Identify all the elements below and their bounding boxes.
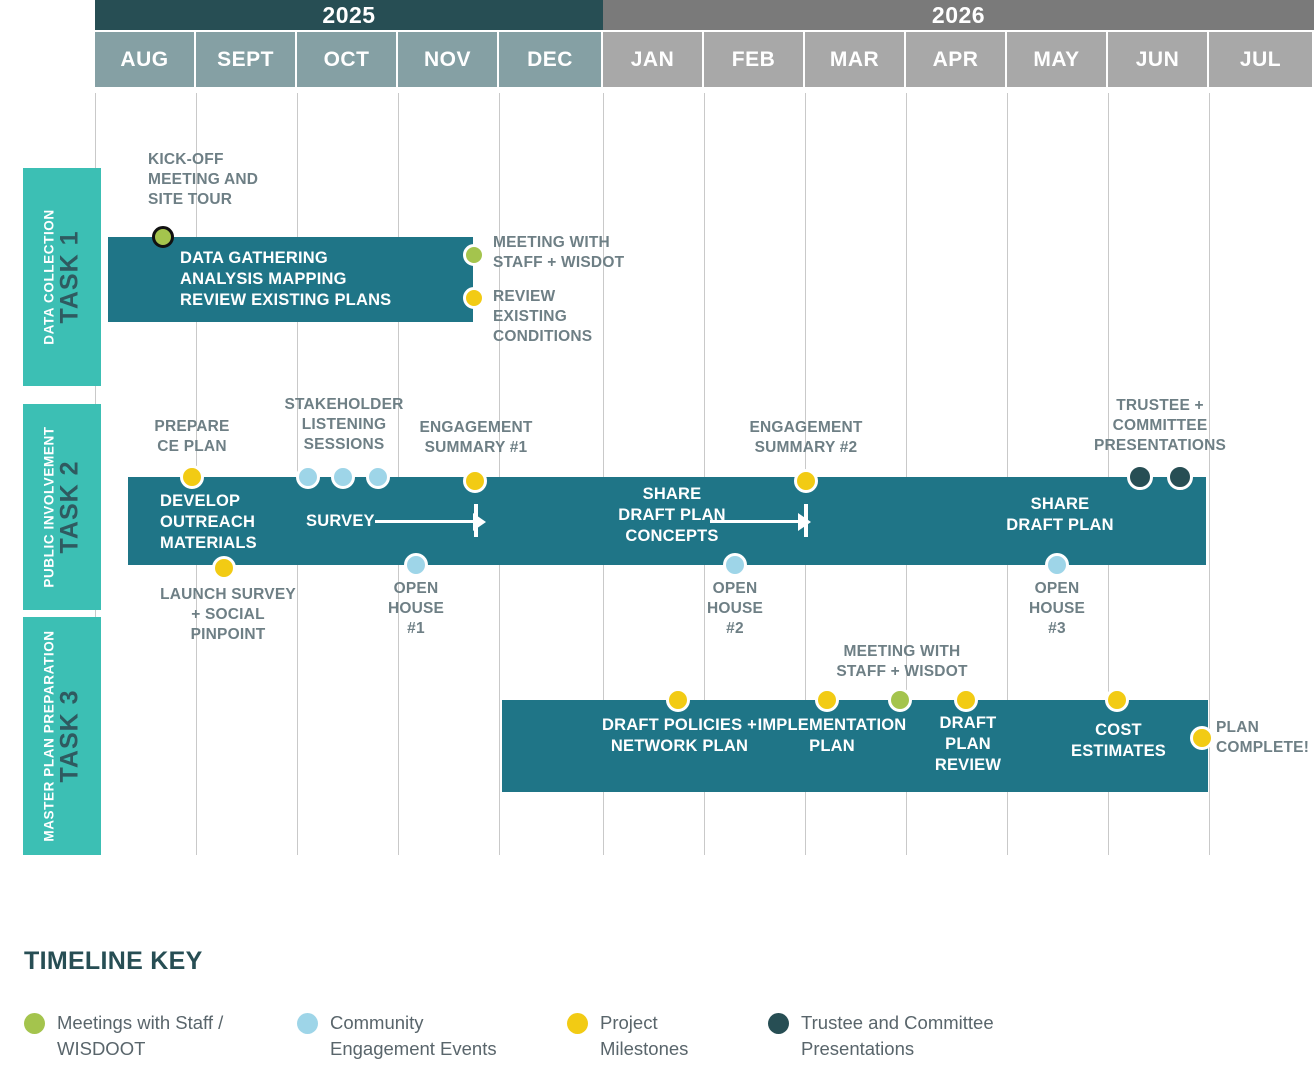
milestone-dot-engagement-summary-1: [463, 469, 487, 493]
review-existing-label: REVIEWEXISTINGCONDITIONS: [493, 287, 643, 346]
month-header-aug: AUG: [95, 32, 196, 87]
month-header-jul: JUL: [1209, 32, 1314, 87]
month-header-mar: MAR: [805, 32, 906, 87]
task-subtitle-3: MASTER PLAN PREPARATION: [42, 630, 56, 841]
launch-survey-label: LAUNCH SURVEY+ SOCIALPINPOINT: [148, 585, 308, 644]
engagement-summary-1-label: ENGAGEMENTSUMMARY #1: [400, 418, 552, 458]
legend-label-project-milestones: ProjectMilestones: [600, 1010, 688, 1063]
month-header-apr: APR: [906, 32, 1007, 87]
kick-off-meeting-label: KICK-OFFMEETING ANDSITE TOUR: [148, 150, 328, 209]
legend-item-meetings-staff-wisdoot: Meetings with Staff /WISDOOT: [24, 1010, 264, 1063]
legend-label-community-engagement: CommunityEngagement Events: [330, 1010, 497, 1063]
milestone-dot-launch-survey: [212, 556, 236, 580]
milestone-dot-plan-complete: [1190, 726, 1214, 750]
stakeholder-sessions-label: STAKEHOLDERLISTENINGSESSIONS: [270, 395, 418, 454]
open-house-3-label: OPENHOUSE#3: [1007, 579, 1107, 638]
month-header-nov: NOV: [398, 32, 499, 87]
plan-complete-label: PLANCOMPLETE!: [1216, 718, 1314, 758]
legend-item-project-milestones: ProjectMilestones: [567, 1010, 747, 1063]
legend-label-meetings-staff-wisdoot: Meetings with Staff /WISDOOT: [57, 1010, 223, 1063]
survey-arrow-label: SURVEY: [306, 511, 375, 532]
milestone-dot-draft-policies-network-plan: [666, 688, 690, 712]
milestone-dot-open-house-2: [723, 553, 747, 577]
task-number-1: TASK 1: [57, 230, 82, 323]
milestone-dot-review-existing-conditions: [463, 287, 485, 309]
month-header-may: MAY: [1007, 32, 1108, 87]
milestone-dot-stakeholder-session-3: [366, 465, 390, 489]
milestone-dot-engagement-summary-2: [794, 469, 818, 493]
task-3-activity-4: COSTESTIMATES: [1062, 720, 1175, 762]
milestone-dot-cost-estimates: [1105, 688, 1129, 712]
legend-item-trustee-committee: Trustee and CommitteePresentations: [768, 1010, 1048, 1063]
task-3-activity-3: DRAFTPLANREVIEW: [923, 713, 1013, 775]
milestone-dot-kick-off-meeting: [152, 226, 174, 248]
milestone-dot-open-house-3: [1045, 553, 1069, 577]
open-house-2-label: OPENHOUSE#2: [685, 579, 785, 638]
task-label-3: TASK 3MASTER PLAN PREPARATION: [23, 617, 101, 855]
task-subtitle-1: DATA COLLECTION: [42, 209, 56, 344]
arrow-line-2: [710, 520, 798, 523]
legend-swatch-meetings-staff-wisdoot: [24, 1013, 45, 1034]
month-header-dec: DEC: [499, 32, 603, 87]
prepare-ce-plan-label: PREPARECE PLAN: [127, 417, 257, 457]
arrow-line-1: [375, 520, 473, 523]
legend-label-trustee-committee: Trustee and CommitteePresentations: [801, 1010, 994, 1063]
arrow-endcap-2: [804, 504, 808, 537]
month-header-feb: FEB: [704, 32, 805, 87]
year-header-2026: 2026: [603, 0, 1314, 30]
timeline-canvas: 20252026 AUGSEPTOCTNOVDECJANFEBMARAPRMAY…: [0, 0, 1314, 1065]
task-2-activity-2: SHAREDRAFT PLANCONCEPTS: [592, 484, 752, 546]
task-3-activity-2: IMPLEMENTATIONPLAN: [756, 715, 908, 757]
milestone-dot-trustee-presentation-2: [1167, 464, 1193, 490]
milestone-dot-stakeholder-session-2: [331, 465, 355, 489]
legend-item-community-engagement: CommunityEngagement Events: [297, 1010, 547, 1063]
task-2-activity-1: DEVELOPOUTREACHMATERIALS: [160, 491, 320, 553]
open-house-1-label: OPENHOUSE#1: [366, 579, 466, 638]
legend-title: TIMELINE KEY: [24, 947, 203, 976]
task-3-activity-1: DRAFT POLICIES +NETWORK PLAN: [592, 715, 767, 757]
milestone-dot-meeting-with-staff-wisdot-2: [888, 688, 912, 712]
meeting-staff-wisdot-2-label: MEETING WITHSTAFF + WISDOT: [826, 642, 978, 682]
milestone-dot-open-house-1: [404, 553, 428, 577]
engagement-summary-2-label: ENGAGEMENTSUMMARY #2: [730, 418, 882, 458]
milestone-dot-draft-plan-review: [954, 688, 978, 712]
month-header-sept: SEPT: [196, 32, 297, 87]
milestone-dot-stakeholder-session-1: [296, 465, 320, 489]
month-header-oct: OCT: [297, 32, 398, 87]
milestone-dot-prepare-ce-plan: [180, 465, 204, 489]
gridline-3: [398, 93, 399, 855]
gridline-4: [499, 93, 500, 855]
task-number-2: TASK 2: [57, 460, 82, 553]
task-label-1: TASK 1DATA COLLECTION: [23, 168, 101, 386]
meeting-staff-wisdot-1-label: MEETING WITHSTAFF + WISDOT: [493, 233, 683, 273]
task-1-activity-1: DATA GATHERINGANALYSIS MAPPINGREVIEW EXI…: [180, 248, 470, 310]
task-label-2: TASK 2PUBLIC INVOLVEMENT: [23, 404, 101, 610]
milestone-dot-meeting-with-staff-wisdot-1: [463, 244, 485, 266]
legend-swatch-trustee-committee: [768, 1013, 789, 1034]
trustee-presentations-label: TRUSTEE +COMMITTEEPRESENTATIONS: [1085, 396, 1235, 455]
milestone-dot-implementation-plan: [815, 688, 839, 712]
milestone-dot-trustee-presentation-1: [1127, 464, 1153, 490]
month-header-jan: JAN: [603, 32, 704, 87]
year-header-2025: 2025: [95, 0, 603, 30]
task-2-activity-3: SHAREDRAFT PLAN: [985, 494, 1135, 536]
task-subtitle-2: PUBLIC INVOLVEMENT: [42, 426, 56, 587]
legend-swatch-community-engagement: [297, 1013, 318, 1034]
legend-swatch-project-milestones: [567, 1013, 588, 1034]
task-number-3: TASK 3: [57, 689, 82, 782]
arrow-endcap-1: [474, 504, 478, 537]
month-header-jun: JUN: [1108, 32, 1209, 87]
